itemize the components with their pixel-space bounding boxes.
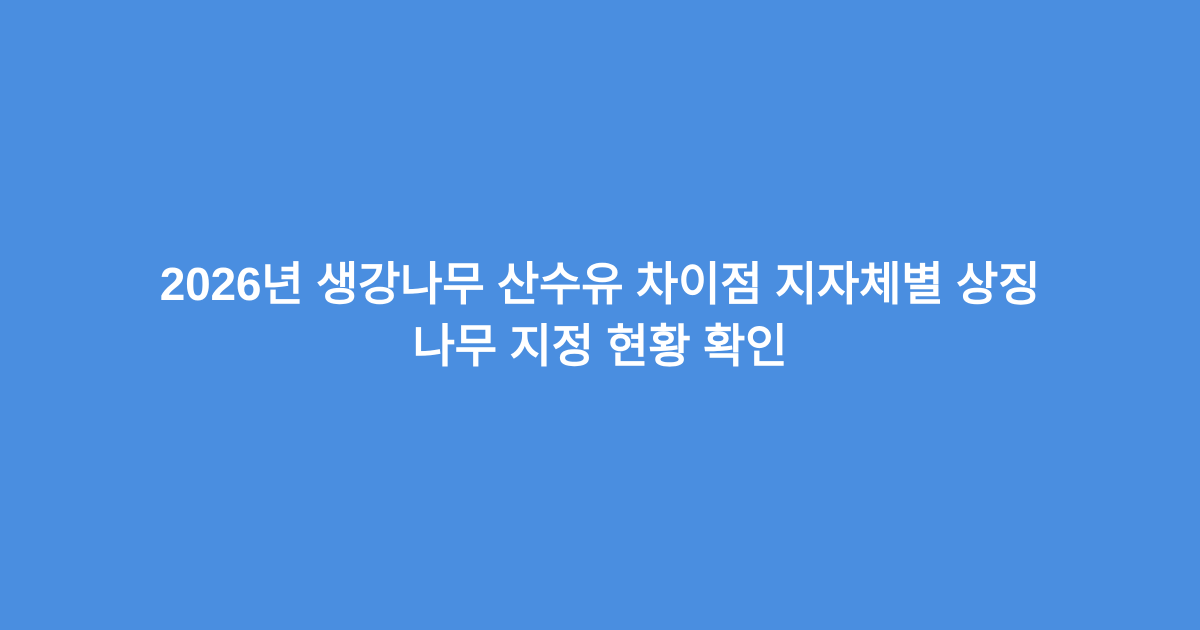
og-card-canvas: 2026년 생강나무 산수유 차이점 지자체별 상징 나무 지정 현황 확인: [0, 0, 1200, 630]
page-title: 2026년 생강나무 산수유 차이점 지자체별 상징 나무 지정 현황 확인: [80, 253, 1120, 377]
